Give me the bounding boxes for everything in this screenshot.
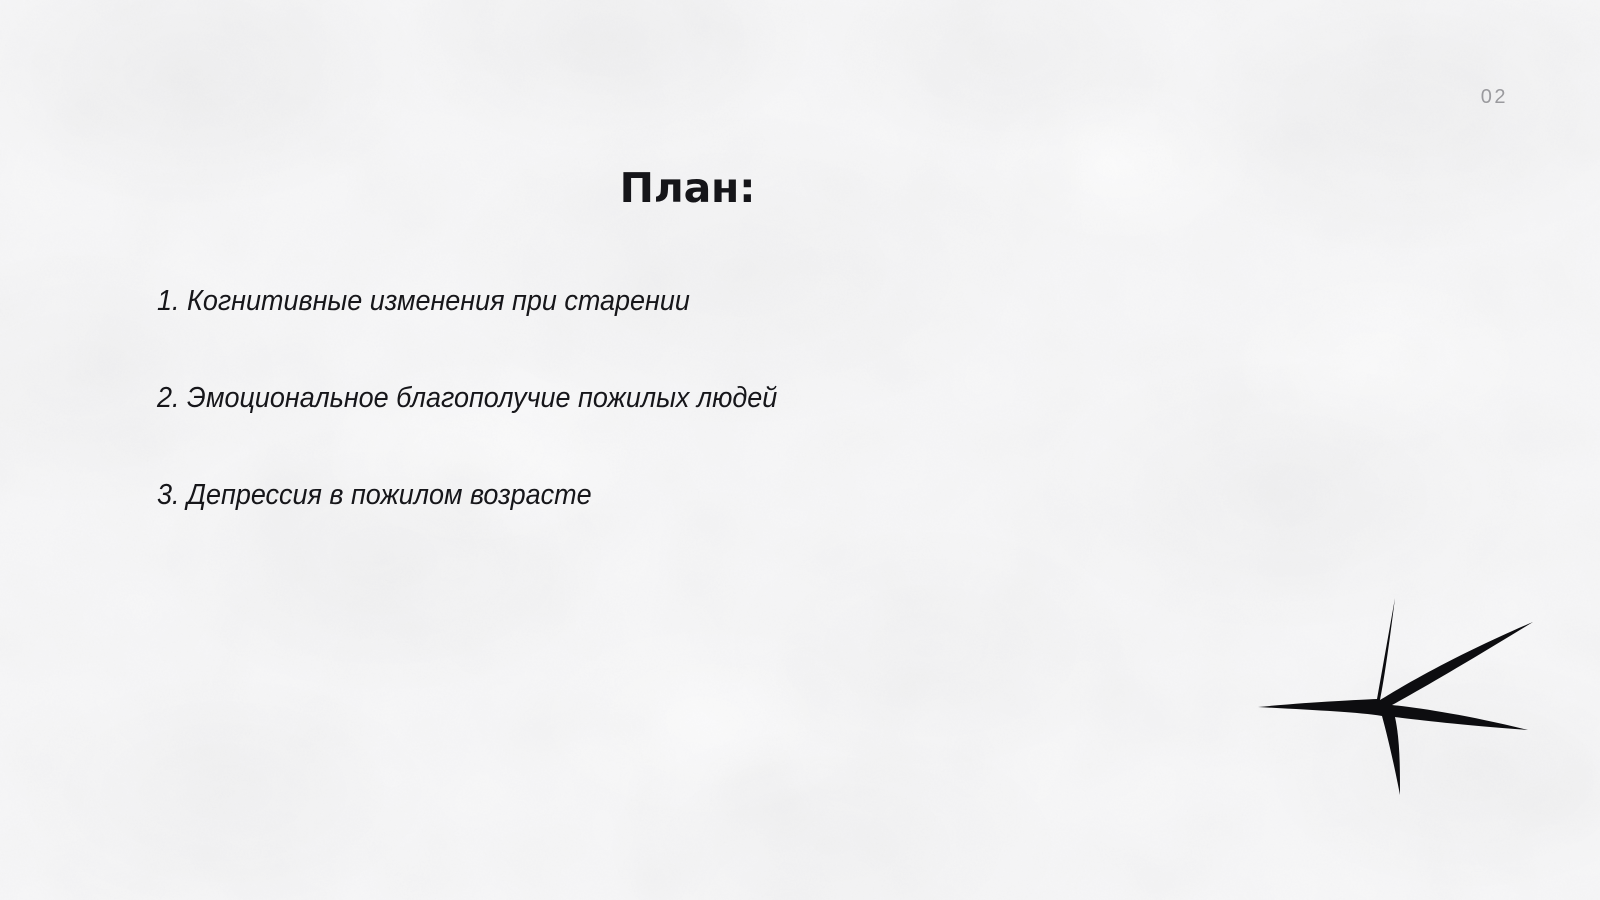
list-item: 1. Когнитивные изменения при старении — [157, 281, 777, 321]
page-title: План: — [0, 164, 1375, 212]
sparkle-star-icon — [1248, 588, 1544, 806]
list-item: 3. Депрессия в пожилом возрасте — [157, 475, 777, 515]
page-number: 02 — [1481, 86, 1508, 109]
list-item: 2. Эмоциональное благополучие пожилых лю… — [157, 378, 777, 418]
presentation-slide: 02 План: 1. Когнитивные изменения при ст… — [0, 0, 1600, 900]
agenda-list: 1. Когнитивные изменения при старении 2.… — [157, 281, 824, 515]
